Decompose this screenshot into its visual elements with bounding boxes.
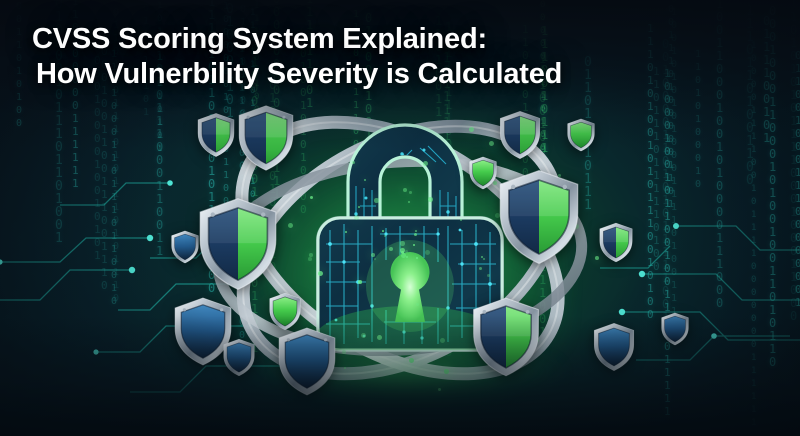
title-line-2: How Vulnerbility Severity is Calculated (32, 57, 562, 92)
hero-banner: 1 1 0 0 1 0 1 1 0 1 0 0 1 0 1 1 1 1 1 1 … (0, 0, 800, 436)
page-title: CVSS Scoring System Explained: How Vulne… (32, 22, 562, 92)
bottom-darken-overlay (0, 316, 800, 436)
title-line-1: CVSS Scoring System Explained: (32, 23, 487, 55)
